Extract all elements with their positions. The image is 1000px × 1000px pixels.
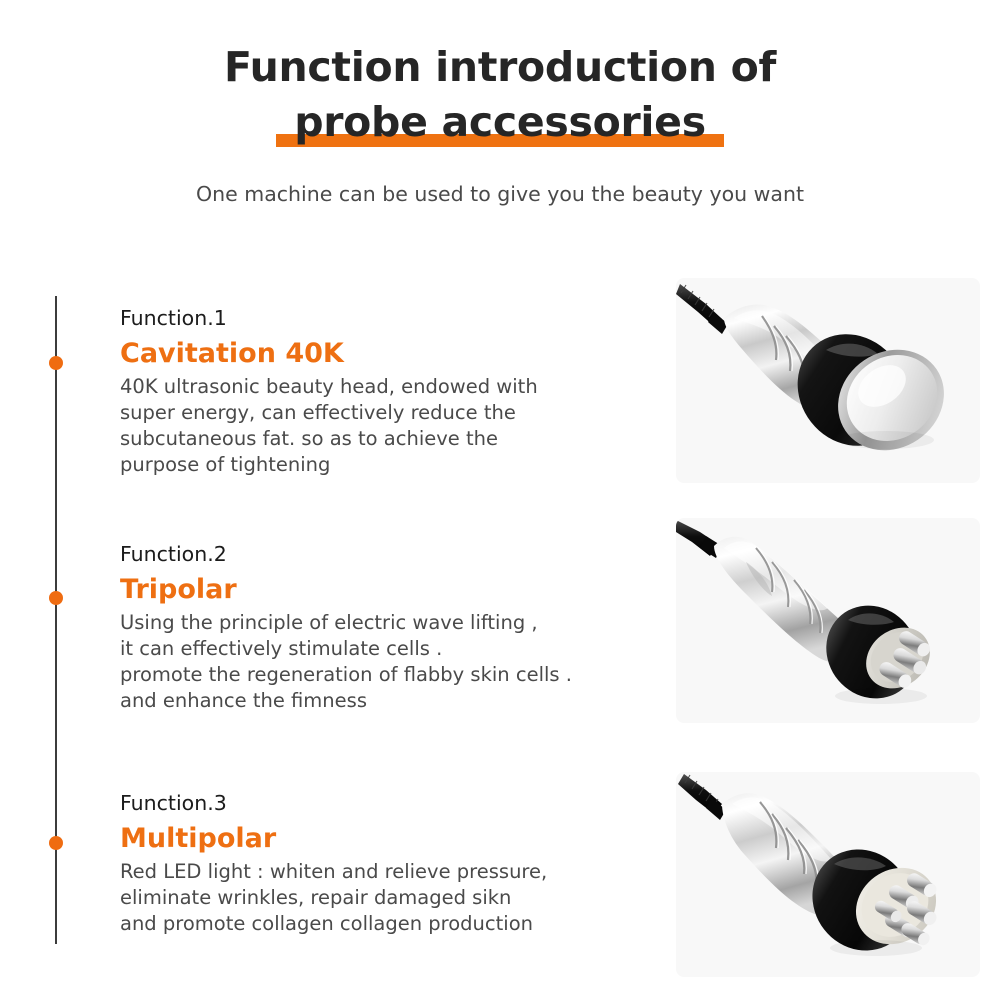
timeline-dot-2 — [49, 591, 63, 605]
function-3-desc-line-3: and promote collagen collagen production — [120, 911, 680, 937]
function-2-label: Function.2 — [120, 542, 680, 567]
function-1-desc-line-3: subcutaneous fat. so as to achieve the — [120, 426, 680, 452]
page-title-line-2: probe accessories — [294, 95, 706, 150]
timeline-dot-3 — [49, 836, 63, 850]
function-3-label: Function.3 — [120, 791, 680, 816]
page-subtitle: One machine can be used to give you the … — [0, 182, 1000, 206]
function-1-title: Cavitation 40K — [120, 337, 680, 371]
multipolar-probe-photo — [676, 772, 980, 977]
function-2-desc-line-3: promote the regeneration of flabby skin … — [120, 662, 680, 688]
page-title-line-2-text: probe accessories — [294, 98, 706, 146]
cavitation-40k-probe-photo — [676, 278, 980, 483]
function-2-desc-line-4: and enhance the fimness — [120, 688, 680, 714]
function-2-desc-line-1: Using the principle of electric wave lif… — [120, 610, 680, 636]
function-1-description: 40K ultrasonic beauty head, endowed with… — [120, 374, 680, 478]
function-3-desc-line-2: eliminate wrinkles, repair damaged sikn — [120, 885, 680, 911]
function-3-desc-line-1: Red LED light : whiten and relieve press… — [120, 859, 680, 885]
function-3-title: Multipolar — [120, 822, 680, 856]
page-header: Function introduction of probe accessori… — [0, 0, 1000, 206]
function-2-title: Tripolar — [120, 573, 680, 607]
function-3-description: Red LED light : whiten and relieve press… — [120, 859, 680, 937]
function-block-2: Function.2 Tripolar Using the principle … — [120, 542, 680, 714]
page-title: Function introduction of probe accessori… — [0, 0, 1000, 149]
function-block-3: Function.3 Multipolar Red LED light : wh… — [120, 791, 680, 937]
function-1-label: Function.1 — [120, 306, 680, 331]
timeline-dot-1 — [49, 356, 63, 370]
tripolar-probe-photo — [676, 518, 980, 723]
page-title-line-1: Function introduction of — [0, 40, 1000, 95]
function-1-desc-line-4: purpose of tightening — [120, 452, 680, 478]
function-block-1: Function.1 Cavitation 40K 40K ultrasonic… — [120, 306, 680, 478]
function-2-description: Using the principle of electric wave lif… — [120, 610, 680, 714]
function-1-desc-line-1: 40K ultrasonic beauty head, endowed with — [120, 374, 680, 400]
function-2-desc-line-2: it can effectively stimulate cells . — [120, 636, 680, 662]
function-1-desc-line-2: super energy, can effectively reduce the — [120, 400, 680, 426]
